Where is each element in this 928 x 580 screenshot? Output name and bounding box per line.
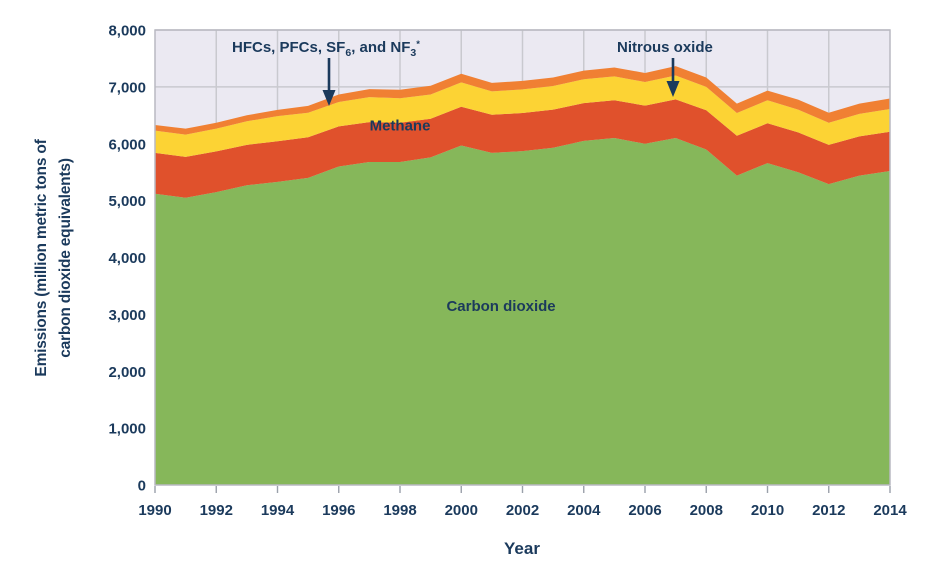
stacked-area-series-group [155,66,890,485]
y-axis-tick-label: 4,000 [108,250,146,267]
x-axis-tick-label: 2006 [628,502,661,519]
y-axis-tick-label: 1,000 [108,421,146,438]
x-axis-tick-label: 2008 [690,502,723,519]
y-axis-tick-label: 3,000 [108,307,146,324]
y-axis-tick-label: 6,000 [108,136,146,153]
hfc-annotation-asterisk: * [416,39,420,50]
y-axis-title-line1: Emissions (million metric tons of [33,138,50,376]
y-axis-tick-labels: 01,0002,0003,0004,0005,0006,0007,0008,00… [108,23,146,495]
nitrous-oxide-annotation-label: Nitrous oxide [617,39,713,56]
y-axis-title-line2: carbon dioxide equivalents) [57,158,74,358]
x-axis-tick-label: 2010 [751,502,784,519]
x-axis-title: Year [504,539,540,558]
hfc-annotation-text-mid: , and NF [351,39,410,56]
chart-canvas: 01,0002,0003,0004,0005,0006,0007,0008,00… [0,0,928,580]
x-axis-tick-label: 2014 [873,502,907,519]
x-axis-tick-label: 1998 [383,502,416,519]
y-axis-tick-label: 5,000 [108,193,146,210]
x-axis-tick-label: 2004 [567,502,601,519]
y-axis-tick-label: 2,000 [108,364,146,381]
x-axis-tick-label: 2012 [812,502,845,519]
carbon-dioxide-label: Carbon dioxide [446,298,555,315]
y-axis-tick-label: 0 [138,478,146,495]
methane-label: Methane [370,118,431,135]
x-axis-tick-label: 1994 [261,502,295,519]
hfc-annotation-text-main: HFCs, PFCs, SF [232,39,345,56]
x-axis-tick-label: 2000 [445,502,478,519]
x-axis-tick-label: 1996 [322,502,355,519]
x-axis-tick-label: 1990 [138,502,171,519]
y-axis-tick-label: 8,000 [108,23,146,40]
x-axis-tick-label: 1992 [200,502,233,519]
greenhouse-gas-emissions-area-chart: 01,0002,0003,0004,0005,0006,0007,0008,00… [0,0,928,580]
y-axis-tick-label: 7,000 [108,79,146,96]
x-axis-tick-label: 2002 [506,502,539,519]
